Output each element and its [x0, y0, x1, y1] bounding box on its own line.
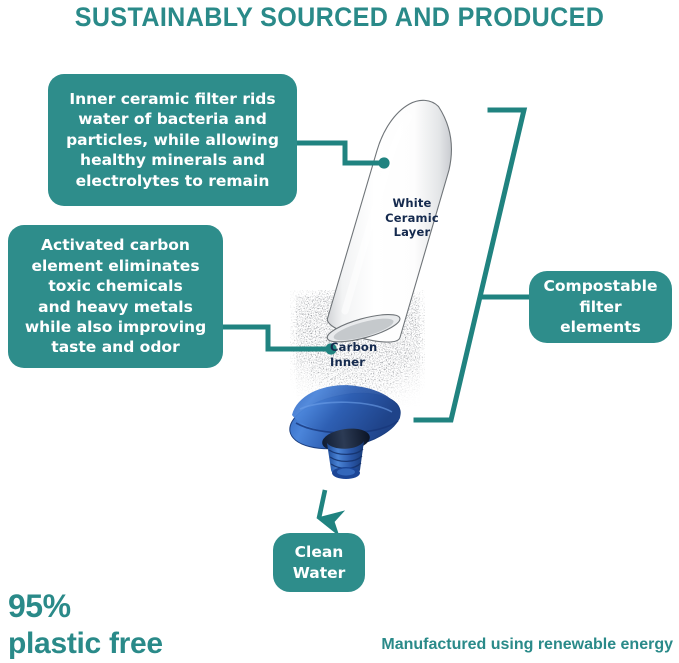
down-arrow-icon	[319, 490, 325, 518]
part-label-line: Ceramic	[385, 211, 439, 225]
callout-line: Clean	[293, 542, 346, 562]
bracket-icon	[416, 110, 524, 420]
callout-line: water of bacteria and	[66, 109, 279, 129]
callout-line: and heavy metals	[25, 297, 206, 317]
stat-plastic-free-percent: 95%	[8, 588, 71, 625]
callout-clean-water[interactable]: Clean Water	[273, 533, 365, 592]
callout-line: filter elements	[539, 297, 662, 338]
elbow-connector-icon	[297, 143, 382, 163]
callout-line: Water	[293, 563, 346, 583]
part-label-white-ceramic-layer: White Ceramic Layer	[370, 196, 454, 240]
part-label-line: Carbon	[330, 340, 377, 354]
threaded-nozzle-icon	[321, 426, 372, 479]
callout-inner-ceramic-filter[interactable]: Inner ceramic filter rids water of bacte…	[48, 74, 297, 206]
infographic-canvas: SUSTAINABLY SOURCED AND PRODUCED	[0, 0, 679, 663]
callout-line: taste and odor	[25, 337, 206, 357]
part-label-line: Layer	[394, 225, 431, 239]
footer-renewable-energy-note: Manufactured using renewable energy	[381, 636, 673, 654]
elbow-connector-icon	[223, 327, 328, 349]
callout-line: while also improving	[25, 317, 206, 337]
part-label-carbon-inner: Carbon Inner	[330, 340, 408, 369]
callout-line: element eliminates	[25, 256, 206, 276]
endpoint-dot-icon	[378, 157, 389, 168]
page-title: SUSTAINABLY SOURCED AND PRODUCED	[24, 2, 655, 33]
callout-line: healthy minerals and	[66, 150, 279, 170]
part-label-line: Inner	[330, 355, 365, 369]
callout-line: particles, while allowing	[66, 130, 279, 150]
callout-line: electrolytes to remain	[66, 171, 279, 191]
callout-line: Inner ceramic filter rids	[66, 89, 279, 109]
callout-line: Compostable	[539, 276, 662, 296]
blue-base-cap-icon	[285, 385, 405, 457]
callout-activated-carbon[interactable]: Activated carbon element eliminates toxi…	[8, 225, 223, 368]
callout-line: Activated carbon	[25, 235, 206, 255]
callout-compostable-filter-elements[interactable]: Compostable filter elements	[529, 271, 672, 343]
callout-line: toxic chemicals	[25, 276, 206, 296]
stat-plastic-free-label: plastic free	[8, 627, 163, 661]
part-label-line: White	[392, 196, 431, 210]
